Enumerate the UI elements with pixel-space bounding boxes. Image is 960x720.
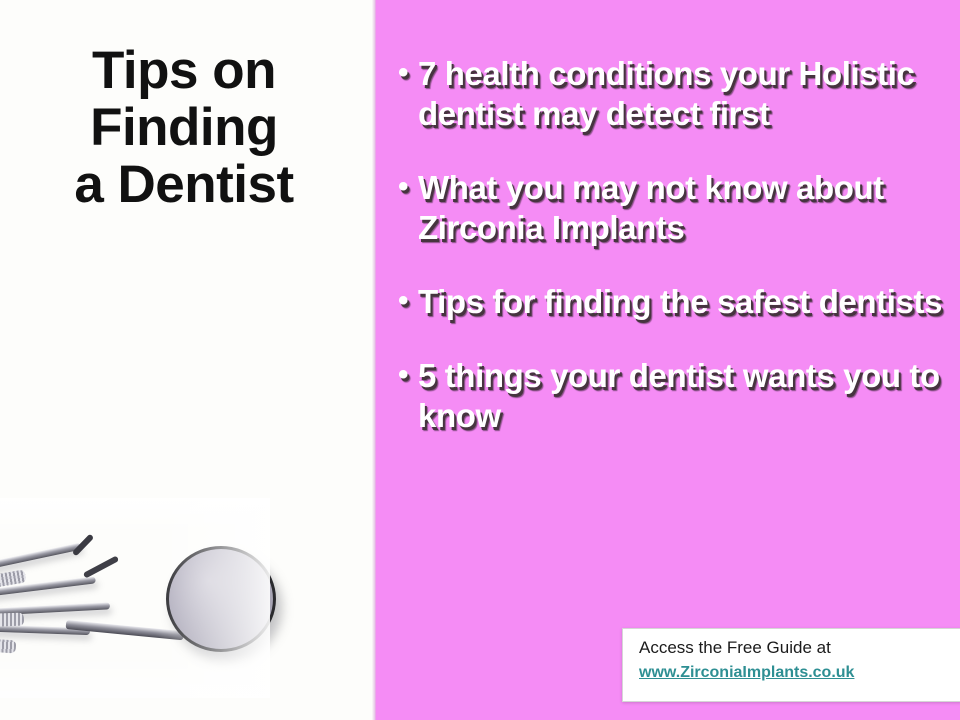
dental-probe-icon — [0, 543, 82, 573]
list-item: • 5 things your dentist wants you to kno… — [398, 356, 954, 436]
left-panel: Tips on Finding a Dentist — [0, 0, 372, 720]
dental-probe-tip-icon — [83, 555, 119, 578]
page-title: Tips on Finding a Dentist — [8, 42, 360, 214]
callout-heading: Access the Free Guide at — [639, 637, 863, 659]
dental-mirror-icon — [166, 546, 276, 652]
bullet-dot-icon: • — [398, 54, 418, 92]
bullet-dot-icon: • — [398, 282, 418, 320]
bullet-dot-icon: • — [398, 356, 418, 394]
list-item: • What you may not know about Zirconia I… — [398, 168, 954, 248]
dental-mirror-handle — [66, 620, 184, 640]
bullet-dot-icon: • — [398, 168, 418, 206]
dental-instruments-photo — [0, 498, 270, 698]
list-item-label: 5 things your dentist wants you to know — [418, 356, 954, 436]
list-item-label: What you may not know about Zirconia Imp… — [418, 168, 954, 248]
list-item-label: Tips for finding the safest dentists — [418, 282, 954, 322]
callout-text-group: Access the Free Guide at www.ZirconiaImp… — [639, 637, 863, 684]
list-item: • 7 health conditions your Holistic dent… — [398, 54, 954, 134]
list-item-label: 7 health conditions your Holistic dentis… — [418, 54, 954, 134]
free-guide-callout: Access the Free Guide at www.ZirconiaImp… — [622, 628, 960, 702]
pink-content-panel: • 7 health conditions your Holistic dent… — [376, 0, 960, 720]
guide-url-link[interactable]: www.ZirconiaImplants.co.uk — [639, 663, 854, 684]
bullet-list: • 7 health conditions your Holistic dent… — [398, 54, 954, 469]
instrument-grip — [0, 636, 16, 654]
list-item: • Tips for finding the safest dentists — [398, 282, 954, 322]
slide-canvas: Tips on Finding a Dentist • 7 health con… — [0, 0, 960, 720]
